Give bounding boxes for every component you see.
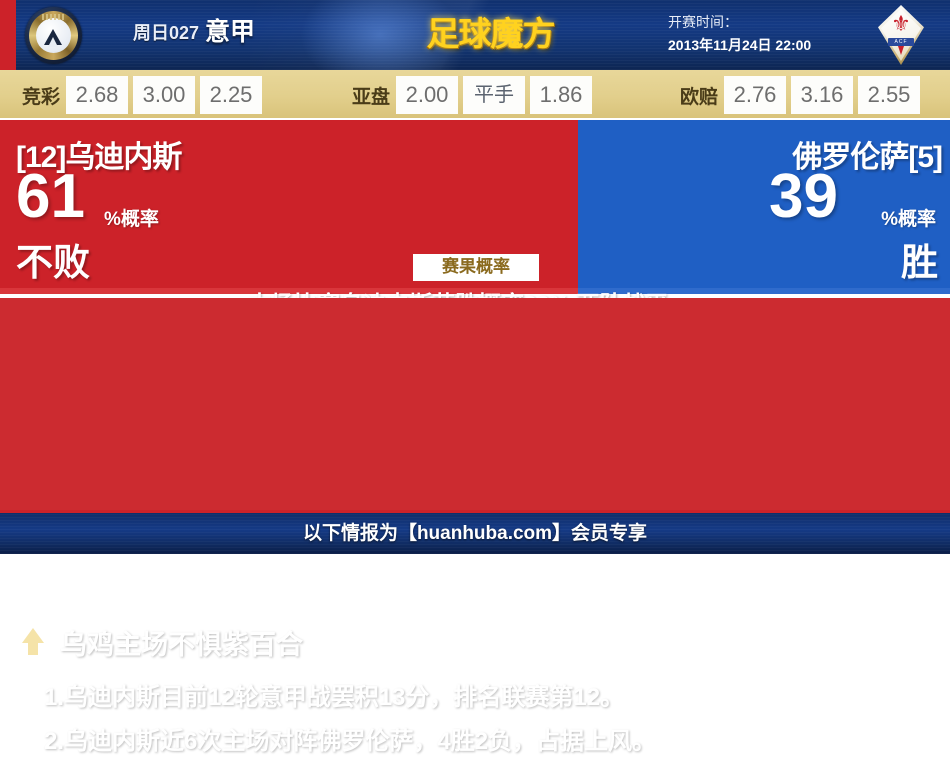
odds-bar: 竞彩 2.68 3.00 2.25 亚盘 2.00 平手 1.86 欧赔 2.7…	[0, 70, 950, 120]
intel-list: 1.乌迪内斯目前12轮意甲战罢积13分，排名联赛第12。 2.乌迪内斯近6次主场…	[44, 676, 924, 764]
up-arrow-stem-icon	[28, 642, 38, 655]
match-round-label: 周日027	[133, 19, 199, 45]
odds-cell-away[interactable]: 2.25	[200, 76, 262, 114]
member-footer-bar: 以下情报为【huanhuba.com】会员专享	[0, 510, 950, 554]
card-header: 周日027 意甲 足球魔方 开赛时间： 2013年11月24日 22:00 ⚜ …	[0, 0, 950, 70]
fleur-de-lis-icon: ⚜	[890, 13, 912, 37]
site-logo[interactable]: 足球魔方	[413, 12, 568, 55]
result-probability-tag: 赛果概率	[413, 254, 539, 281]
odds-cell-away[interactable]: 2.55	[858, 76, 920, 114]
kickoff-time-label: 开赛时间：	[668, 12, 738, 32]
match-preview-card: 周日027 意甲 足球魔方 开赛时间： 2013年11月24日 22:00 ⚜ …	[0, 0, 950, 554]
odds-cell-draw[interactable]: 3.00	[133, 76, 195, 114]
crest-diamond-tail	[898, 46, 904, 55]
crest-acf-band: ACF	[888, 38, 914, 46]
up-arrow-icon	[22, 628, 44, 643]
odds-group-label: 欧赔	[680, 82, 718, 109]
odds-cell-handicap[interactable]: 平手	[463, 76, 525, 114]
crest-top-lettering	[42, 14, 65, 20]
odds-group-asian-handicap: 亚盘 2.00 平手 1.86	[352, 76, 597, 114]
odds-cell-draw[interactable]: 3.16	[791, 76, 853, 114]
list-item: 2.乌迪内斯近6次主场对阵佛罗伦萨，4胜2负，占据上风。	[44, 720, 924, 764]
odds-cell-home[interactable]: 2.00	[396, 76, 458, 114]
away-probability-outcome: 胜	[901, 232, 938, 286]
home-probability-value: 61	[16, 166, 85, 228]
away-probability-value: 39	[769, 166, 838, 228]
intel-headline: 乌鸡主场不惧紫百合	[60, 623, 303, 662]
odds-group-label: 竞彩	[22, 82, 60, 109]
header-red-accent-strip	[0, 0, 16, 70]
odds-group-label: 亚盘	[352, 82, 390, 109]
udinese-crest-icon	[25, 7, 82, 64]
intel-panel: 乌鸡主场不惧紫百合 1.乌迪内斯目前12轮意甲战罢积13分，排名联赛第12。 2…	[0, 298, 950, 510]
crest-chevron-inner	[48, 37, 58, 47]
odds-group-european: 欧赔 2.76 3.16 2.55	[680, 76, 925, 114]
fiorentina-crest-icon: ⚜ ACF	[878, 5, 924, 65]
list-item: 1.乌迪内斯目前12轮意甲战罢积13分，排名联赛第12。	[44, 676, 924, 720]
home-probability-unit: %概率	[104, 204, 159, 231]
league-name: 意甲	[205, 12, 255, 48]
home-probability-outcome: 不败	[16, 232, 90, 286]
odds-cell-home[interactable]: 2.68	[66, 76, 128, 114]
away-probability-unit: %概率	[881, 204, 936, 231]
odds-group-jingcai: 竞彩 2.68 3.00 2.25	[22, 76, 267, 114]
odds-cell-away[interactable]: 1.86	[530, 76, 592, 114]
kickoff-time-value: 2013年11月24日 22:00	[668, 35, 811, 55]
result-probability-band: [12]乌迪内斯 61 %概率 不败 佛罗伦萨[5] 39 %概率 胜 赛果概率…	[0, 120, 950, 294]
member-notice-text: 以下情报为【huanhuba.com】会员专享	[0, 513, 950, 554]
odds-cell-home[interactable]: 2.76	[724, 76, 786, 114]
